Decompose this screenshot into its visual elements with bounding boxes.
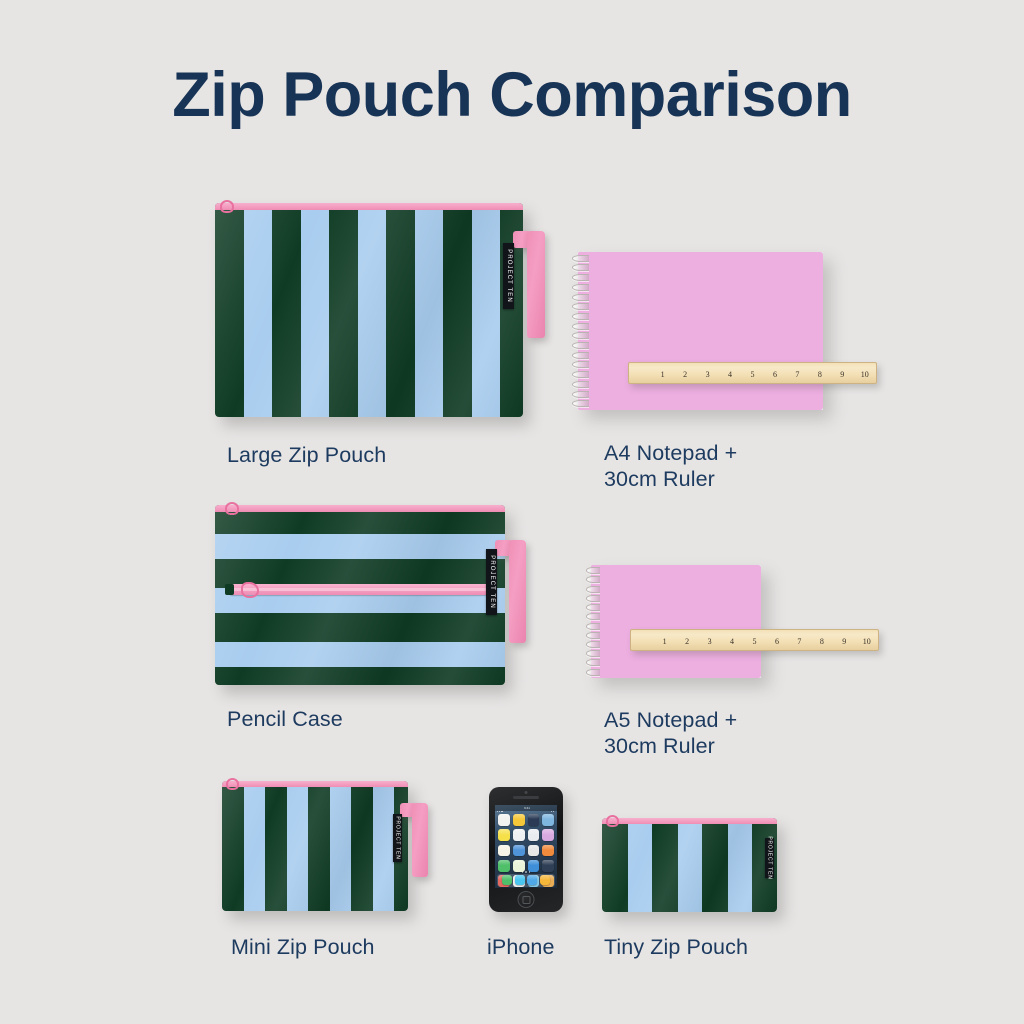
app-icon[interactable] [528,829,540,841]
caption-a4-notepad: A4 Notepad + 30cm Ruler [604,440,884,492]
brand-tag-text: PROJECT TEN [506,249,512,303]
brand-tag: PROJECT TEN [503,243,514,309]
ruler-number-spacer [631,638,653,646]
zipper-end-cap-left [225,584,234,595]
spiral-coil [572,391,589,398]
pull-loop-tail [412,803,428,877]
caption-large-zip-pouch: Large Zip Pouch [227,442,527,468]
app-icon[interactable] [498,845,510,857]
item-iphone: 9:41 [489,787,563,912]
brand-tag: PROJECT TEN [393,814,402,862]
item-pencil-case: PROJECT TEN [215,505,505,685]
spiral-coil [572,342,589,349]
brand-tag: PROJECT TEN [765,838,774,878]
ruler-number: 9 [831,371,853,379]
stripe-pattern-vertical [222,781,408,911]
spiral-coil [586,669,600,676]
status-time: 9:41 [524,806,530,810]
ruler-number: 2 [674,371,696,379]
mini-zip-pouch-product [222,781,408,911]
ruler-number: 4 [719,371,741,379]
app-icon[interactable] [513,814,525,826]
brand-tag-text: PROJECT TEN [767,836,773,879]
pull-loop-tail [527,231,545,338]
zipper-top [215,203,523,210]
ruler-number: 5 [741,371,763,379]
app-icon[interactable] [498,814,510,826]
ruler-number: 5 [743,638,765,646]
item-mini-zip-pouch: PROJECT TEN [222,781,408,911]
home-button-square-icon [522,896,530,904]
ruler-number: 7 [786,371,808,379]
notepad-cover [578,252,823,410]
spiral-coil [572,361,589,368]
spiral-coil [586,659,600,666]
brand-tag-text: PROJECT TEN [395,816,401,859]
ruler-number: 6 [766,638,788,646]
app-icon[interactable] [542,814,554,826]
stripe-pattern-horizontal [215,505,505,685]
app-icon[interactable] [542,860,554,872]
ruler-number: 10 [856,638,878,646]
stripe-pattern-vertical [602,818,777,912]
spiral-coil [572,284,589,291]
spiral-coil [572,371,589,378]
ruler-30cm: 12345678910 [628,362,877,384]
notepad-cover [591,565,761,678]
spiral-coil [586,586,600,593]
pull-loop-tail [509,540,526,643]
page-dots [495,871,557,873]
spiral-coil [572,332,589,339]
spiral-binding [586,565,599,678]
ruler-number: 7 [788,638,810,646]
zipper-teeth [229,588,491,591]
pouch-body [222,781,408,911]
spiral-coil [586,632,600,639]
a4-notepad-product [578,252,823,410]
caption-tiny-zip-pouch: Tiny Zip Pouch [604,934,824,960]
phone-screen: 9:41 [495,805,557,888]
app-icon[interactable] [513,845,525,857]
spiral-coil [572,400,589,407]
spiral-coil [586,604,600,611]
ruler-number: 6 [764,371,786,379]
a5-notepad-product [591,565,761,678]
spiral-coil [586,623,600,630]
spiral-coil [572,313,589,320]
zipper-top [215,505,505,512]
ruler-number: 3 [696,371,718,379]
earpiece-speaker-icon [513,796,539,799]
stripe-pattern-vertical [215,203,523,417]
dock-app-icon[interactable] [515,875,525,885]
brand-tag: PROJECT TEN [486,549,497,615]
ruler-number: 4 [721,638,743,646]
tiny-zip-pouch-product [602,818,777,912]
caption-pencil-case: Pencil Case [227,706,527,732]
ruler-number: 2 [676,638,698,646]
spiral-coil [586,576,600,583]
dock-app-icon[interactable] [527,875,537,885]
iphone-product: 9:41 [489,787,563,912]
dock-app-icon[interactable] [502,875,512,885]
item-a4-notepad: 12345678910 [575,252,885,417]
large-zip-pouch-product [215,203,523,417]
app-icon[interactable] [528,845,540,857]
zipper-slider-icon [220,200,234,213]
zipper-slider-icon [225,502,239,515]
zipper-top [602,818,777,824]
pouch-body [215,505,505,685]
brand-tag-text: PROJECT TEN [489,555,495,609]
app-icon[interactable] [542,829,554,841]
caption-mini-zip-pouch: Mini Zip Pouch [231,934,451,960]
ruler-number-spacer [629,371,651,379]
spiral-coil [572,264,589,271]
middle-zipper-slider-icon [241,582,259,598]
zipper-slider-icon [606,815,619,827]
app-icon[interactable] [528,814,540,826]
app-icon[interactable] [528,860,540,872]
ruler-number: 10 [854,371,876,379]
spiral-coil [572,323,589,330]
front-camera-icon [525,791,528,794]
zipper-slider-icon [226,778,239,790]
ruler-numbers: 12345678910 [629,371,876,379]
app-icon[interactable] [498,829,510,841]
spiral-coil [572,352,589,359]
app-icon[interactable] [513,829,525,841]
dock-app-icon[interactable] [540,875,550,885]
app-icon[interactable] [542,845,554,857]
spiral-coil [586,613,600,620]
pencil-case-product [215,505,505,685]
status-bar: 9:41 [495,805,557,811]
item-a5-notepad: 12345678910 [588,565,878,685]
caption-a5-notepad: A5 Notepad + 30cm Ruler [604,707,884,759]
page-title: Zip Pouch Comparison [0,64,1024,127]
app-icon[interactable] [498,860,510,872]
ruler-number: 9 [833,638,855,646]
app-dock[interactable] [497,874,555,887]
comparison-infographic: Zip Pouch Comparison PROJECT TEN Large Z… [0,0,1024,1024]
spiral-coil [572,303,589,310]
spiral-coil [572,274,589,281]
spiral-coil [586,650,600,657]
ruler-numbers: 12345678910 [631,638,878,646]
item-large-zip-pouch: PROJECT TEN [215,203,523,417]
app-icon[interactable] [513,860,525,872]
ruler-number: 1 [653,638,675,646]
spiral-coil [586,595,600,602]
item-tiny-zip-pouch: PROJECT TEN [602,818,777,912]
ruler-number: 8 [809,371,831,379]
spiral-binding [572,252,588,410]
pouch-body [215,203,523,417]
ruler-number: 8 [811,638,833,646]
home-button[interactable] [518,891,535,908]
ruler-number: 3 [698,638,720,646]
ruler-number: 1 [651,371,673,379]
spiral-coil [586,567,600,574]
spiral-coil [572,255,589,262]
middle-zipper [229,584,491,595]
ruler-30cm: 12345678910 [630,629,879,651]
spiral-coil [572,294,589,301]
spiral-coil [586,641,600,648]
spiral-coil [572,381,589,388]
zipper-top [222,781,408,787]
pouch-body [602,818,777,912]
